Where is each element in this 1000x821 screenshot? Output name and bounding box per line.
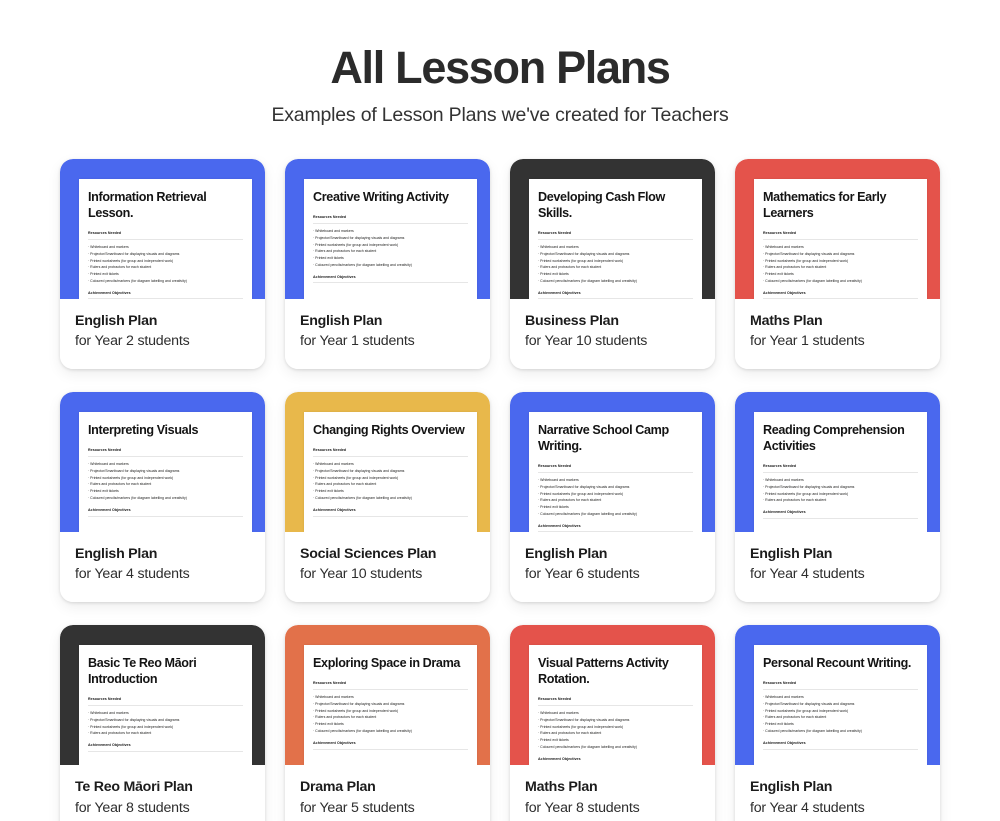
resource-list-item: Coloured pencils/markers (for diagram la… — [538, 511, 693, 518]
divider — [313, 223, 468, 224]
resource-list-item: Rulers and protractors for each student — [313, 248, 468, 255]
achievement-objectives-heading: Achievement Objectives — [763, 291, 918, 296]
card-plan-year: for Year 4 students — [750, 799, 925, 819]
lesson-sheet-title: Information Retrieval Lesson. — [88, 190, 243, 222]
lesson-sheet-title: Interpreting Visuals — [88, 423, 243, 439]
page-title: All Lesson Plans — [0, 44, 1000, 91]
resource-list-item: Printed worksheets (for group and indepe… — [538, 491, 693, 498]
resource-list-item: Printed exit tickets — [538, 737, 693, 744]
resources-list: Whiteboard and markersProjector/Smartboa… — [313, 461, 468, 502]
resource-list-item: Whiteboard and markers — [538, 244, 693, 251]
card-plan-subject: Social Sciences Plan — [300, 545, 475, 564]
divider — [538, 239, 693, 240]
card-preview-thumbnail: Reading Comprehension ActivitiesResource… — [735, 392, 940, 532]
resource-list-item: Printed exit tickets — [538, 504, 693, 511]
resource-list-item: Printed exit tickets — [538, 271, 693, 278]
resources-needed-heading: Resources Needed — [538, 464, 693, 469]
divider — [763, 749, 918, 750]
card-footer: Maths Planfor Year 8 students — [510, 765, 715, 821]
divider — [313, 456, 468, 457]
card-footer: English Planfor Year 4 students — [60, 532, 265, 602]
resources-list: Whiteboard and markersProjector/Smartboa… — [763, 477, 918, 504]
achievement-objectives-heading: Achievement Objectives — [88, 508, 243, 513]
achievement-objectives-heading: Achievement Objectives — [88, 291, 243, 296]
resources-list: Whiteboard and markersProjector/Smartboa… — [88, 710, 243, 737]
resource-list-item: Whiteboard and markers — [538, 477, 693, 484]
card-plan-year: for Year 8 students — [525, 799, 700, 819]
lesson-sheet: Developing Cash Flow Skills.Resources Ne… — [529, 179, 702, 299]
card-plan-subject: Drama Plan — [300, 778, 475, 797]
card-plan-year: for Year 1 students — [300, 332, 475, 352]
resources-needed-heading: Resources Needed — [763, 231, 918, 236]
resource-list-item: Whiteboard and markers — [763, 477, 918, 484]
divider — [313, 749, 468, 750]
lesson-sheet: Interpreting VisualsResources NeededWhit… — [79, 412, 252, 532]
lesson-sheet-title: Creative Writing Activity — [313, 190, 468, 206]
divider — [88, 705, 243, 706]
resource-list-item: Whiteboard and markers — [763, 694, 918, 701]
achievement-objectives-heading: Achievement Objectives — [313, 508, 468, 513]
resource-list-item: Projector/Smartboard for displaying visu… — [88, 251, 243, 258]
resources-needed-heading: Resources Needed — [313, 448, 468, 453]
resources-needed-heading: Resources Needed — [538, 231, 693, 236]
divider — [313, 516, 468, 517]
resources-needed-heading: Resources Needed — [313, 215, 468, 220]
achievement-objectives-heading: Achievement Objectives — [763, 510, 918, 515]
resource-list-item: Projector/Smartboard for displaying visu… — [763, 701, 918, 708]
resource-list-item: Coloured pencils/markers (for diagram la… — [313, 495, 468, 502]
lesson-plan-card[interactable]: Exploring Space in DramaResources Needed… — [285, 625, 490, 821]
resource-list-item: Printed exit tickets — [763, 271, 918, 278]
resource-list-item: Printed exit tickets — [88, 271, 243, 278]
divider — [538, 765, 693, 766]
card-footer: English Planfor Year 4 students — [735, 765, 940, 821]
resources-needed-heading: Resources Needed — [88, 697, 243, 702]
lesson-plan-card[interactable]: Interpreting VisualsResources NeededWhit… — [60, 392, 265, 602]
lesson-sheet: Creative Writing ActivityResources Neede… — [304, 179, 477, 299]
card-plan-subject: Business Plan — [525, 312, 700, 331]
card-footer: Maths Planfor Year 1 students — [735, 299, 940, 369]
achievement-objectives-heading: Achievement Objectives — [538, 757, 693, 762]
lesson-sheet-title: Basic Te Reo Māori Introduction — [88, 656, 243, 688]
resource-list-item: Projector/Smartboard for displaying visu… — [538, 251, 693, 258]
resource-list-item: Projector/Smartboard for displaying visu… — [538, 484, 693, 491]
resource-list-item: Whiteboard and markers — [538, 710, 693, 717]
resource-list-item: Whiteboard and markers — [313, 228, 468, 235]
divider — [763, 298, 918, 299]
resource-list-item: Rulers and protractors for each student — [313, 481, 468, 488]
resource-list-item: Whiteboard and markers — [88, 244, 243, 251]
card-preview-thumbnail: Exploring Space in DramaResources Needed… — [285, 625, 490, 765]
card-preview-thumbnail: Basic Te Reo Māori IntroductionResources… — [60, 625, 265, 765]
achievement-objectives-heading: Achievement Objectives — [538, 291, 693, 296]
achievement-objectives-heading: Achievement Objectives — [88, 743, 243, 748]
resources-list: Whiteboard and markersProjector/Smartboa… — [313, 694, 468, 735]
resources-needed-heading: Resources Needed — [763, 681, 918, 686]
lesson-sheet: Reading Comprehension ActivitiesResource… — [754, 412, 927, 532]
lesson-plan-card[interactable]: Reading Comprehension ActivitiesResource… — [735, 392, 940, 602]
resources-list: Whiteboard and markersProjector/Smartboa… — [538, 477, 693, 518]
card-plan-year: for Year 6 students — [525, 565, 700, 585]
resource-list-item: Coloured pencils/markers (for diagram la… — [763, 728, 918, 735]
resource-list-item: Projector/Smartboard for displaying visu… — [313, 701, 468, 708]
divider — [88, 456, 243, 457]
resource-list-item: Printed worksheets (for group and indepe… — [313, 475, 468, 482]
card-footer: Business Planfor Year 10 students — [510, 299, 715, 369]
resource-list-item: Printed exit tickets — [313, 255, 468, 262]
card-preview-thumbnail: Interpreting VisualsResources NeededWhit… — [60, 392, 265, 532]
card-plan-year: for Year 4 students — [75, 565, 250, 585]
resource-list-item: Printed worksheets (for group and indepe… — [88, 724, 243, 731]
resource-list-item: Printed exit tickets — [763, 721, 918, 728]
lesson-sheet: Information Retrieval Lesson.Resources N… — [79, 179, 252, 299]
resource-list-item: Rulers and protractors for each student — [538, 730, 693, 737]
resource-list-item: Projector/Smartboard for displaying visu… — [313, 468, 468, 475]
resources-list: Whiteboard and markersProjector/Smartboa… — [313, 228, 468, 269]
card-plan-subject: Te Reo Māori Plan — [75, 778, 250, 797]
resources-list: Whiteboard and markersProjector/Smartboa… — [538, 244, 693, 285]
lesson-sheet: Changing Rights OverviewResources Needed… — [304, 412, 477, 532]
resources-needed-heading: Resources Needed — [88, 231, 243, 236]
resource-list-item: Projector/Smartboard for displaying visu… — [313, 235, 468, 242]
resource-list-item: Rulers and protractors for each student — [538, 264, 693, 271]
lesson-plan-card[interactable]: Basic Te Reo Māori IntroductionResources… — [60, 625, 265, 821]
resource-list-item: Projector/Smartboard for displaying visu… — [763, 484, 918, 491]
resources-list: Whiteboard and markersProjector/Smartboa… — [763, 244, 918, 285]
resource-list-item: Rulers and protractors for each student — [88, 264, 243, 271]
card-plan-subject: English Plan — [750, 545, 925, 564]
resource-list-item: Rulers and protractors for each student — [763, 714, 918, 721]
card-plan-subject: Maths Plan — [525, 778, 700, 797]
lesson-plan-card[interactable]: Narrative School Camp Writing.Resources … — [510, 392, 715, 602]
achievement-objectives-heading: Achievement Objectives — [313, 275, 468, 280]
lesson-sheet-title: Changing Rights Overview — [313, 423, 468, 439]
card-preview-thumbnail: Creative Writing ActivityResources Neede… — [285, 159, 490, 299]
resource-list-item: Printed worksheets (for group and indepe… — [763, 491, 918, 498]
resource-list-item: Projector/Smartboard for displaying visu… — [88, 468, 243, 475]
card-preview-thumbnail: Mathematics for Early LearnersResources … — [735, 159, 940, 299]
lesson-plan-card[interactable]: Creative Writing ActivityResources Neede… — [285, 159, 490, 369]
page-subtitle: Examples of Lesson Plans we've created f… — [0, 104, 1000, 127]
card-footer: English Planfor Year 4 students — [735, 532, 940, 602]
card-plan-subject: English Plan — [75, 545, 250, 564]
lesson-plan-card[interactable]: Mathematics for Early LearnersResources … — [735, 159, 940, 369]
resource-list-item: Printed worksheets (for group and indepe… — [538, 258, 693, 265]
lesson-sheet-title: Mathematics for Early Learners — [763, 190, 918, 222]
card-plan-subject: English Plan — [750, 778, 925, 797]
divider — [538, 705, 693, 706]
divider — [763, 518, 918, 519]
resource-list-item: Coloured pencils/markers (for diagram la… — [88, 495, 243, 502]
lesson-plans-page: All Lesson Plans Examples of Lesson Plan… — [0, 0, 1000, 821]
achievement-objectives-heading: Achievement Objectives — [313, 741, 468, 746]
lesson-sheet-title: Personal Recount Writing. — [763, 656, 918, 672]
card-plan-subject: English Plan — [75, 312, 250, 331]
divider — [538, 531, 693, 532]
resource-list-item: Printed worksheets (for group and indepe… — [313, 242, 468, 249]
divider — [88, 298, 243, 299]
card-preview-thumbnail: Personal Recount Writing.Resources Neede… — [735, 625, 940, 765]
resource-list-item: Rulers and protractors for each student — [313, 714, 468, 721]
resource-list-item: Coloured pencils/markers (for diagram la… — [538, 278, 693, 285]
lesson-sheet-title: Narrative School Camp Writing. — [538, 423, 693, 455]
divider — [88, 516, 243, 517]
divider — [88, 239, 243, 240]
resources-list: Whiteboard and markersProjector/Smartboa… — [88, 461, 243, 502]
resources-needed-heading: Resources Needed — [88, 448, 243, 453]
page-header: All Lesson Plans Examples of Lesson Plan… — [0, 0, 1000, 127]
card-plan-subject: English Plan — [300, 312, 475, 331]
lesson-sheet-title: Exploring Space in Drama — [313, 656, 468, 672]
resource-list-item: Coloured pencils/markers (for diagram la… — [313, 262, 468, 269]
card-footer: English Planfor Year 1 students — [285, 299, 490, 369]
card-plan-year: for Year 8 students — [75, 799, 250, 819]
resource-list-item: Printed exit tickets — [88, 488, 243, 495]
card-plan-subject: Maths Plan — [750, 312, 925, 331]
divider — [538, 472, 693, 473]
resource-list-item: Whiteboard and markers — [763, 244, 918, 251]
lesson-sheet: Mathematics for Early LearnersResources … — [754, 179, 927, 299]
card-plan-subject: English Plan — [525, 545, 700, 564]
achievement-objectives-heading: Achievement Objectives — [763, 741, 918, 746]
lesson-plan-grid: Information Retrieval Lesson.Resources N… — [54, 159, 946, 821]
card-plan-year: for Year 2 students — [75, 332, 250, 352]
lesson-sheet-title: Developing Cash Flow Skills. — [538, 190, 693, 222]
lesson-plan-card[interactable]: Developing Cash Flow Skills.Resources Ne… — [510, 159, 715, 369]
card-footer: English Planfor Year 6 students — [510, 532, 715, 602]
card-plan-year: for Year 10 students — [525, 332, 700, 352]
achievement-objectives-heading: Achievement Objectives — [538, 524, 693, 529]
card-preview-thumbnail: Narrative School Camp Writing.Resources … — [510, 392, 715, 532]
card-preview-thumbnail: Developing Cash Flow Skills.Resources Ne… — [510, 159, 715, 299]
resource-list-item: Projector/Smartboard for displaying visu… — [763, 251, 918, 258]
resource-list-item: Printed worksheets (for group and indepe… — [88, 475, 243, 482]
resource-list-item: Coloured pencils/markers (for diagram la… — [313, 728, 468, 735]
resource-list-item: Whiteboard and markers — [313, 694, 468, 701]
resource-list-item: Printed worksheets (for group and indepe… — [763, 708, 918, 715]
divider — [88, 751, 243, 752]
resource-list-item: Printed worksheets (for group and indepe… — [313, 708, 468, 715]
card-footer: English Planfor Year 2 students — [60, 299, 265, 369]
resource-list-item: Rulers and protractors for each student — [88, 481, 243, 488]
lesson-sheet: Personal Recount Writing.Resources Neede… — [754, 645, 927, 765]
resource-list-item: Printed worksheets (for group and indepe… — [88, 258, 243, 265]
card-footer: Drama Planfor Year 5 students — [285, 765, 490, 821]
resources-needed-heading: Resources Needed — [538, 697, 693, 702]
lesson-sheet: Basic Te Reo Māori IntroductionResources… — [79, 645, 252, 765]
card-preview-thumbnail: Changing Rights OverviewResources Needed… — [285, 392, 490, 532]
divider — [763, 239, 918, 240]
resource-list-item: Whiteboard and markers — [313, 461, 468, 468]
lesson-sheet-title: Reading Comprehension Activities — [763, 423, 918, 455]
divider — [538, 298, 693, 299]
resource-list-item: Whiteboard and markers — [88, 461, 243, 468]
lesson-plan-card[interactable]: Visual Patterns Activity Rotation.Resour… — [510, 625, 715, 821]
resources-needed-heading: Resources Needed — [313, 681, 468, 686]
divider — [763, 689, 918, 690]
lesson-plan-card[interactable]: Information Retrieval Lesson.Resources N… — [60, 159, 265, 369]
resource-list-item: Printed worksheets (for group and indepe… — [538, 724, 693, 731]
lesson-sheet: Visual Patterns Activity Rotation.Resour… — [529, 645, 702, 765]
lesson-sheet-title: Visual Patterns Activity Rotation. — [538, 656, 693, 688]
divider — [313, 689, 468, 690]
resource-list-item: Rulers and protractors for each student — [763, 497, 918, 504]
resource-list-item: Printed worksheets (for group and indepe… — [763, 258, 918, 265]
card-preview-thumbnail: Information Retrieval Lesson.Resources N… — [60, 159, 265, 299]
resource-list-item: Coloured pencils/markers (for diagram la… — [88, 278, 243, 285]
resource-list-item: Whiteboard and markers — [88, 710, 243, 717]
resources-list: Whiteboard and markersProjector/Smartboa… — [763, 694, 918, 735]
resources-list: Whiteboard and markersProjector/Smartboa… — [538, 710, 693, 751]
lesson-sheet: Narrative School Camp Writing.Resources … — [529, 412, 702, 532]
divider — [313, 282, 468, 283]
card-preview-thumbnail: Visual Patterns Activity Rotation.Resour… — [510, 625, 715, 765]
card-footer: Te Reo Māori Planfor Year 8 students — [60, 765, 265, 821]
resource-list-item: Coloured pencils/markers (for diagram la… — [538, 744, 693, 751]
resource-list-item: Printed exit tickets — [313, 721, 468, 728]
card-footer: Social Sciences Planfor Year 10 students — [285, 532, 490, 602]
resources-needed-heading: Resources Needed — [763, 464, 918, 469]
card-plan-year: for Year 4 students — [750, 565, 925, 585]
card-plan-year: for Year 5 students — [300, 799, 475, 819]
resource-list-item: Coloured pencils/markers (for diagram la… — [763, 278, 918, 285]
card-plan-year: for Year 10 students — [300, 565, 475, 585]
lesson-plan-card[interactable]: Changing Rights OverviewResources Needed… — [285, 392, 490, 602]
lesson-plan-card[interactable]: Personal Recount Writing.Resources Neede… — [735, 625, 940, 821]
divider — [763, 472, 918, 473]
resources-list: Whiteboard and markersProjector/Smartboa… — [88, 244, 243, 285]
resource-list-item: Rulers and protractors for each student — [538, 497, 693, 504]
resource-list-item: Projector/Smartboard for displaying visu… — [88, 717, 243, 724]
resource-list-item: Projector/Smartboard for displaying visu… — [538, 717, 693, 724]
resource-list-item: Rulers and protractors for each student — [763, 264, 918, 271]
resource-list-item: Printed exit tickets — [313, 488, 468, 495]
card-plan-year: for Year 1 students — [750, 332, 925, 352]
resource-list-item: Rulers and protractors for each student — [88, 730, 243, 737]
lesson-sheet: Exploring Space in DramaResources Needed… — [304, 645, 477, 765]
